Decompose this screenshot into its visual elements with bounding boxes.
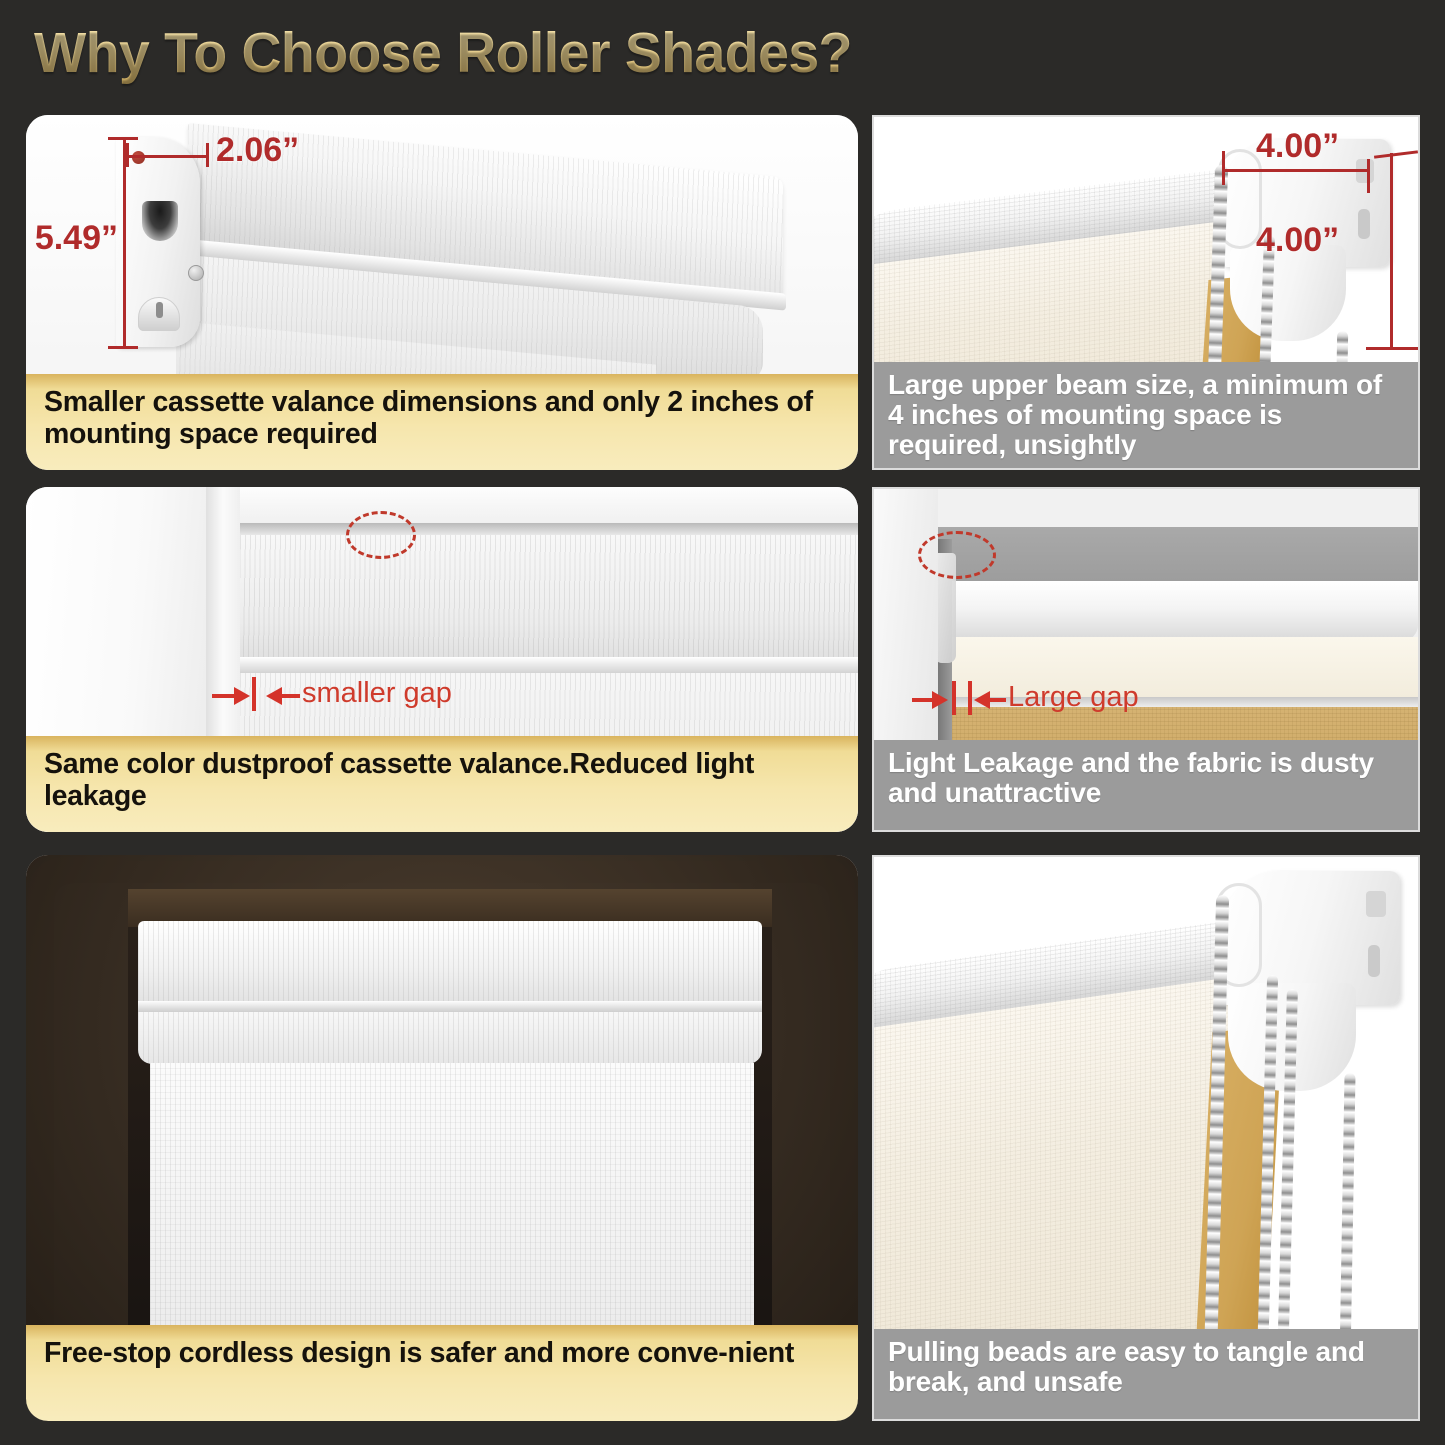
depth-dimension-label: 2.06” bbox=[216, 131, 299, 170]
panel-2-caption: Large upper beam size, a minimum of 4 in… bbox=[874, 362, 1418, 468]
width-dimension-tick-right bbox=[1367, 159, 1370, 193]
valance-end-bracket bbox=[116, 137, 200, 347]
width-dimension-label: 4.00” bbox=[1256, 127, 1339, 166]
panel-1-caption: Smaller cassette valance dimensions and … bbox=[26, 374, 858, 470]
bracket-slot bbox=[142, 201, 178, 241]
height-dimension-tick-top bbox=[108, 137, 138, 140]
depth-dimension-tick-right bbox=[206, 143, 209, 167]
gap-callout-label: Large gap bbox=[1008, 681, 1139, 714]
valance-lower-face bbox=[138, 1012, 762, 1064]
gap-callout-label: smaller gap bbox=[302, 677, 452, 710]
height-dimension-line bbox=[123, 137, 126, 349]
panel-5: Free-stop cordless design is safer and m… bbox=[26, 855, 858, 1421]
page-title: Why To Choose Roller Shades? bbox=[34, 20, 852, 86]
bracket-mount-hole bbox=[1366, 891, 1386, 917]
panel-3-caption: Same color dustproof cassette valance.Re… bbox=[26, 736, 858, 832]
cassette-top-edge bbox=[240, 523, 858, 535]
bracket-mount-slot bbox=[1358, 209, 1370, 239]
gap-arrow-left bbox=[234, 687, 250, 705]
height-dimension-label: 5.49” bbox=[26, 219, 118, 258]
bracket-knob bbox=[138, 297, 180, 331]
shade-fabric bbox=[150, 1063, 754, 1363]
highlight-circle bbox=[346, 511, 416, 559]
depth-dimension-tick-left bbox=[126, 143, 129, 167]
height-dimension-label: 4.00” bbox=[1256, 221, 1339, 260]
roller-tube bbox=[934, 581, 1418, 641]
panel-6: Pulling beads are easy to tangle and bre… bbox=[872, 855, 1420, 1421]
panel-4: Large gap Light Leakage and the fabric i… bbox=[872, 487, 1420, 832]
gap-arrow-left-stem bbox=[912, 698, 934, 702]
panel-4-caption: Light Leakage and the fabric is dusty an… bbox=[874, 740, 1418, 830]
gap-marker bbox=[252, 677, 256, 711]
panel-2: 4.00” 4.00” Large upper beam size, a min… bbox=[872, 115, 1420, 470]
gap-arrow-left bbox=[932, 691, 948, 709]
width-dimension-line bbox=[1222, 169, 1370, 172]
window-head-jamb bbox=[226, 487, 858, 527]
valance-face bbox=[240, 535, 858, 660]
panel-6-caption: Pulling beads are easy to tangle and bre… bbox=[874, 1329, 1418, 1419]
gap-arrow-right-stem bbox=[988, 698, 1006, 702]
panel-5-caption: Free-stop cordless design is safer and m… bbox=[26, 1325, 858, 1421]
dark-recess-band bbox=[934, 527, 1418, 585]
panel-3: smaller gap Same color dustproof cassett… bbox=[26, 487, 858, 832]
gap-arrow-right-stem bbox=[280, 694, 300, 698]
bracket-mount-slot bbox=[1368, 945, 1380, 977]
gap-arrow-left-stem bbox=[212, 694, 236, 698]
width-dimension-tick-left bbox=[1222, 151, 1225, 185]
valance-rail bbox=[240, 657, 858, 673]
gap-marker bbox=[952, 681, 956, 715]
gap-marker bbox=[968, 681, 972, 715]
depth-dimension-line bbox=[126, 155, 208, 158]
panel-1: 5.49” 2.06” Smaller cassette valance dim… bbox=[26, 115, 858, 470]
height-dimension-tick-bottom bbox=[108, 346, 138, 349]
height-dimension-line bbox=[1390, 153, 1393, 349]
height-dimension-tick-bottom bbox=[1366, 347, 1418, 350]
highlight-circle bbox=[918, 531, 996, 579]
cassette-valance bbox=[138, 921, 762, 1003]
screw-icon bbox=[188, 265, 204, 281]
